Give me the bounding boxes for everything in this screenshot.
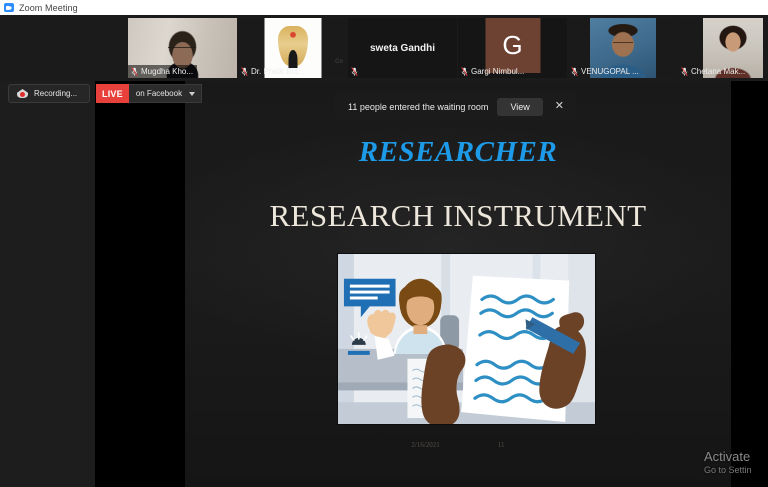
- close-icon[interactable]: ✕: [552, 99, 567, 114]
- mic-muted-icon: [241, 67, 248, 76]
- record-icon: [17, 89, 28, 98]
- page-title: RESEARCH INSTRUMENT: [185, 198, 731, 234]
- recording-indicator[interactable]: Recording...: [8, 84, 90, 103]
- shared-slide: RESEARCHER RESEARCH INSTRUMENT: [185, 81, 731, 487]
- waiting-room-toast[interactable]: 11 people entered the waiting room View …: [334, 92, 576, 121]
- live-platform-label: on Facebook: [136, 89, 182, 98]
- participant-filmstrip[interactable]: Mugdha Kho... Co Dr. Pratik Bur...: [0, 15, 768, 81]
- participant-display-name-2: sweta Gandhi: [348, 18, 457, 78]
- recording-label: Recording...: [34, 89, 77, 98]
- mic-muted-icon: [571, 67, 578, 76]
- window-title: Zoom Meeting: [19, 3, 78, 13]
- participant-tile-1[interactable]: Co Dr. Pratik Bur...: [238, 18, 347, 78]
- slide-number: 11: [498, 441, 505, 449]
- participant-tile-2[interactable]: sweta Gandhi: [348, 18, 457, 78]
- view-waiting-room-button[interactable]: View: [497, 98, 542, 116]
- shared-screen-stage: RESEARCHER RESEARCH INSTRUMENT: [0, 81, 768, 487]
- participant-name-plate-0: Mugdha Kho...: [128, 65, 197, 78]
- waiting-room-message: 11 people entered the waiting room: [348, 102, 488, 112]
- participant-name-plate-2: [348, 65, 362, 78]
- participant-name-plate-4: VENUGOPAL ...: [568, 65, 643, 78]
- activate-windows-watermark: Activate Go to Settin: [700, 449, 768, 475]
- live-platform-dropdown[interactable]: on Facebook: [129, 84, 202, 103]
- zoom-meeting-window: Zoom Meeting Mugdha Kho... Co: [0, 0, 768, 487]
- stage-letterbox-gap: [95, 81, 185, 487]
- mic-muted-icon: [681, 67, 688, 76]
- watermark-title: Activate: [704, 449, 768, 464]
- slide-date: 2/16/2021: [411, 441, 439, 449]
- participant-name-0: Mugdha Kho...: [141, 67, 193, 76]
- interview-illustration: [337, 253, 596, 425]
- participant-tile-5[interactable]: Chetana Mak...: [678, 18, 768, 78]
- chevron-down-icon[interactable]: [189, 92, 195, 96]
- live-stream-control[interactable]: LIVE on Facebook: [96, 84, 202, 103]
- watermark-subtitle: Go to Settin: [704, 465, 768, 475]
- participant-video-2: sweta Gandhi: [348, 18, 457, 78]
- slide-kicker: RESEARCHER: [185, 136, 731, 169]
- participant-name-3: Gargi Nimbul...: [471, 67, 524, 76]
- mic-muted-icon: [131, 67, 138, 76]
- participant-name-5: Chetana Mak...: [691, 67, 745, 76]
- participant-video-overlay-text-1: Co: [335, 59, 343, 65]
- participant-name-4: VENUGOPAL ...: [581, 67, 639, 76]
- participant-tile-4[interactable]: VENUGOPAL ...: [568, 18, 677, 78]
- participant-name-1: Dr. Pratik Bur...: [251, 67, 305, 76]
- participant-tile-3[interactable]: G Gargi Nimbul...: [458, 18, 567, 78]
- participant-name-plate-3: Gargi Nimbul...: [458, 65, 528, 78]
- mic-muted-icon: [461, 67, 468, 76]
- live-badge: LIVE: [96, 84, 129, 103]
- participant-name-plate-5: Chetana Mak...: [678, 65, 749, 78]
- stage-left-chrome: [0, 81, 95, 487]
- window-title-bar: Zoom Meeting: [0, 0, 768, 15]
- zoom-logo-icon: [4, 3, 14, 12]
- participant-name-plate-1: Dr. Pratik Bur...: [238, 65, 309, 78]
- mic-muted-icon: [351, 67, 358, 76]
- participant-tile-0[interactable]: Mugdha Kho...: [128, 18, 237, 78]
- slide-footer: 2/16/2021 11: [185, 441, 731, 449]
